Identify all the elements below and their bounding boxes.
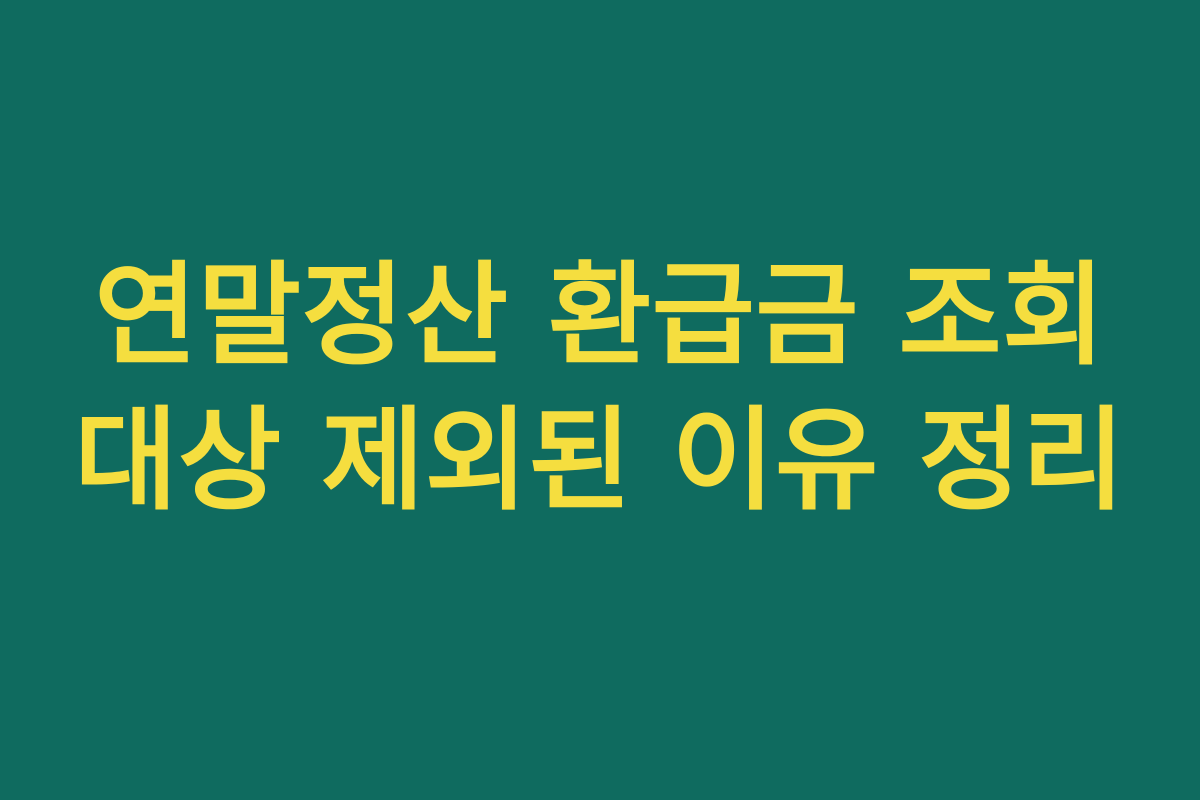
title-block: 연말정산 환급금 조회 대상 제외된 이유 정리: [0, 246, 1200, 532]
title-line-2: 대상 제외된 이유 정리: [60, 391, 1140, 532]
thumbnail-card: 연말정산 환급금 조회 대상 제외된 이유 정리: [0, 0, 1200, 800]
title-line-1: 연말정산 환급금 조회: [60, 246, 1140, 387]
